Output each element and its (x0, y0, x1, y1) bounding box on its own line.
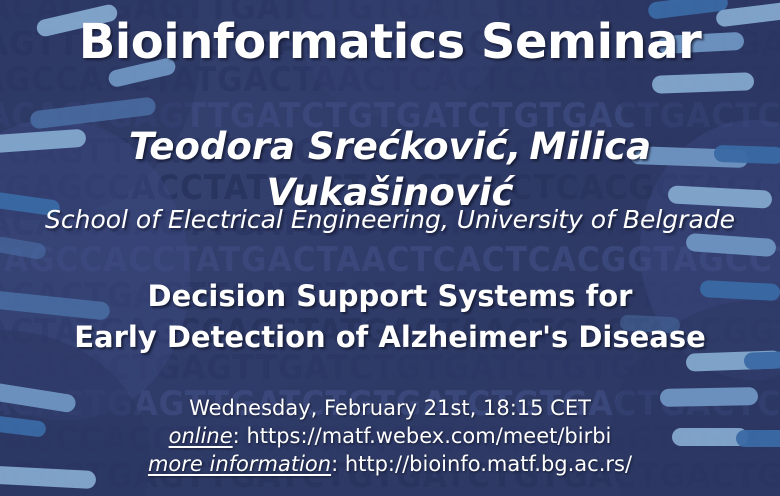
event-details: Wednesday, February 21st, 18:15 CET onli… (0, 394, 780, 478)
online-link-line: online: https://matf.webex.com/meet/birb… (0, 422, 780, 450)
talk-title-line-1: Decision Support Systems for (0, 276, 780, 317)
more-information-separator: : (331, 452, 345, 476)
poster-content: Bioinformatics Seminar Teodora Srećković… (0, 0, 780, 496)
seminar-poster: GACACTGAGTTGATCTGTGATCTGTGACTGACTGAGTT C… (0, 0, 780, 496)
more-information-label: more information (148, 452, 331, 476)
online-separator: : (233, 424, 247, 448)
talk-title: Decision Support Systems for Early Detec… (0, 276, 780, 358)
seminar-title: Bioinformatics Seminar (0, 11, 780, 73)
talk-title-line-2: Early Detection of Alzheimer's Disease (0, 317, 780, 358)
more-information-url[interactable]: http://bioinfo.matf.bg.ac.rs/ (345, 452, 632, 476)
online-label: online (169, 424, 233, 448)
speaker-name-one: Teodora Srećković, (129, 125, 521, 168)
event-datetime: Wednesday, February 21st, 18:15 CET (0, 394, 780, 422)
affiliation: School of Electrical Engineering, Univer… (0, 203, 780, 237)
more-information-line: more information: http://bioinfo.matf.bg… (0, 450, 780, 478)
online-url[interactable]: https://matf.webex.com/meet/birbi (246, 424, 611, 448)
